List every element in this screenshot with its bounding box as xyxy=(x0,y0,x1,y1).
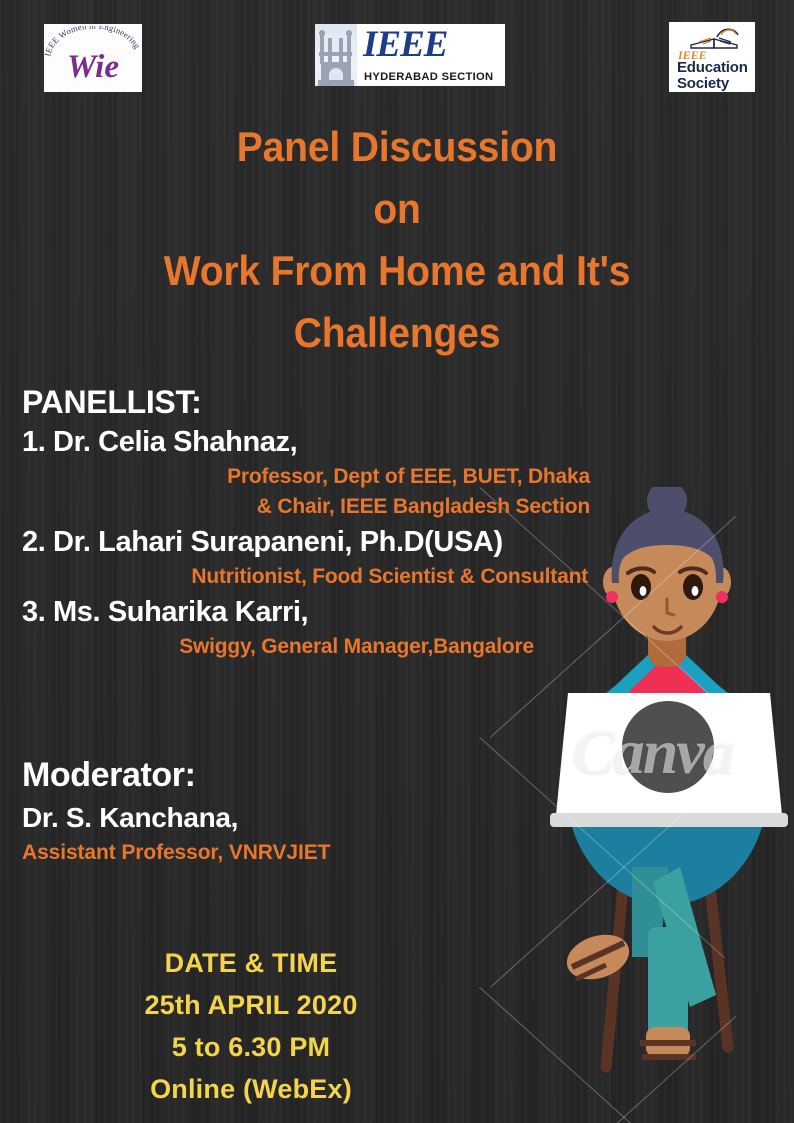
poster-canvas: IEEE Women in Engineering Wie IEEE HYDER… xyxy=(0,0,794,1123)
panellist-1-affiliation-line-1: Professor, Dept of EEE, BUET, Dhaka xyxy=(22,462,590,492)
moderator-affiliation: Assistant Professor, VNRVJIET xyxy=(22,838,542,868)
title-line-3: Work From Home and It's xyxy=(28,240,766,302)
edu-society-label: Society xyxy=(677,75,729,92)
moderator-heading: Moderator: xyxy=(22,752,542,798)
panellist-1-name: 1. Dr. Celia Shahnaz, xyxy=(22,422,602,462)
charminar-icon xyxy=(315,24,357,86)
poster-title: Panel Discussion on Work From Home and I… xyxy=(28,116,766,364)
ieee-hyderabad-logo: IEEE HYDERABAD SECTION xyxy=(315,24,505,86)
ieee-wordmark: IEEE xyxy=(363,25,447,65)
schedule-date: 25th APRIL 2020 xyxy=(56,984,446,1026)
edu-education-label: Education xyxy=(677,59,748,76)
panellist-section: PANELLIST: 1. Dr. Celia Shahnaz, Profess… xyxy=(22,382,602,662)
left-earring xyxy=(606,591,618,603)
screen-content-circle xyxy=(622,701,714,793)
panellist-2-name: 2. Dr. Lahari Surapaneni, Ph.D(USA) xyxy=(22,522,602,562)
lower-leg xyxy=(648,927,688,1037)
open-book-icon xyxy=(689,26,741,50)
moderator-name: Dr. S. Kanchana, xyxy=(22,798,542,838)
schedule-mode: Online (WebEx) xyxy=(56,1068,446,1110)
schedule-heading: DATE & TIME xyxy=(56,942,446,984)
moderator-section: Moderator: Dr. S. Kanchana, Assistant Pr… xyxy=(22,752,542,868)
title-line-4: Challenges xyxy=(28,302,766,364)
ieee-education-society-logo: IEEE Education Society xyxy=(669,22,755,92)
schedule-time: 5 to 6.30 PM xyxy=(56,1026,446,1068)
title-line-2: on xyxy=(28,178,766,240)
right-earring xyxy=(716,591,728,603)
panellist-1-affiliation-line-2: & Chair, IEEE Bangladesh Section xyxy=(22,492,590,522)
title-line-1: Panel Discussion xyxy=(28,116,766,178)
panellist-heading: PANELLIST: xyxy=(22,382,602,422)
schedule-section: DATE & TIME 25th APRIL 2020 5 to 6.30 PM… xyxy=(56,942,446,1110)
logo-bar: IEEE Women in Engineering Wie IEEE HYDER… xyxy=(0,0,794,108)
ieee-section-label: HYDERABAD SECTION xyxy=(364,71,493,83)
panellist-3-name: 3. Ms. Suharika Karri, xyxy=(22,592,602,632)
laptop-base xyxy=(550,813,788,827)
ieee-wie-logo: IEEE Women in Engineering Wie xyxy=(44,24,142,92)
wie-wordmark: Wie xyxy=(67,51,119,84)
panellist-3-affiliation-line-1: Swiggy, General Manager,Bangalore xyxy=(22,632,534,662)
panellist-2-affiliation-line-1: Nutritionist, Food Scientist & Consultan… xyxy=(22,562,588,592)
